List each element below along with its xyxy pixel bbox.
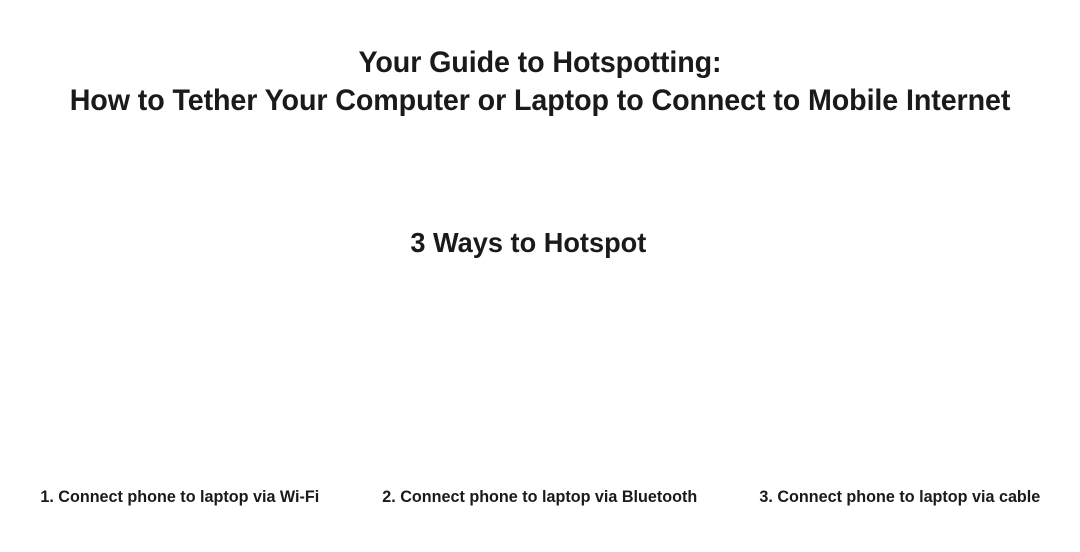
article-page: Your Guide to Hotspotting: How to Tether… <box>0 0 1080 552</box>
method-illustration-2 <box>360 276 720 476</box>
method-illustrations <box>0 276 1080 476</box>
method-caption-row: 1. Connect phone to laptop via Wi-Fi 2. … <box>0 486 1080 514</box>
page-title-line-1: Your Guide to Hotspotting: <box>24 44 1055 82</box>
method-caption-cell-1: 1. Connect phone to laptop via Wi-Fi <box>0 486 360 514</box>
method-illustration-3 <box>720 276 1080 476</box>
method-caption-cell-2: 2. Connect phone to laptop via Bluetooth <box>360 486 720 514</box>
method-caption-cell-3: 3. Connect phone to laptop via cable <box>720 486 1080 514</box>
page-title: Your Guide to Hotspotting: How to Tether… <box>0 44 1080 120</box>
section-heading: 3 Ways to Hotspot <box>5 226 1053 260</box>
method-caption-bluetooth: 2. Connect phone to laptop via Bluetooth <box>383 486 698 508</box>
method-caption-cable: 3. Connect phone to laptop via cable <box>760 486 1041 508</box>
method-illustration-1 <box>0 276 360 476</box>
method-caption-wifi: 1. Connect phone to laptop via Wi-Fi <box>41 486 320 508</box>
page-title-line-2: How to Tether Your Computer or Laptop to… <box>24 82 1055 120</box>
